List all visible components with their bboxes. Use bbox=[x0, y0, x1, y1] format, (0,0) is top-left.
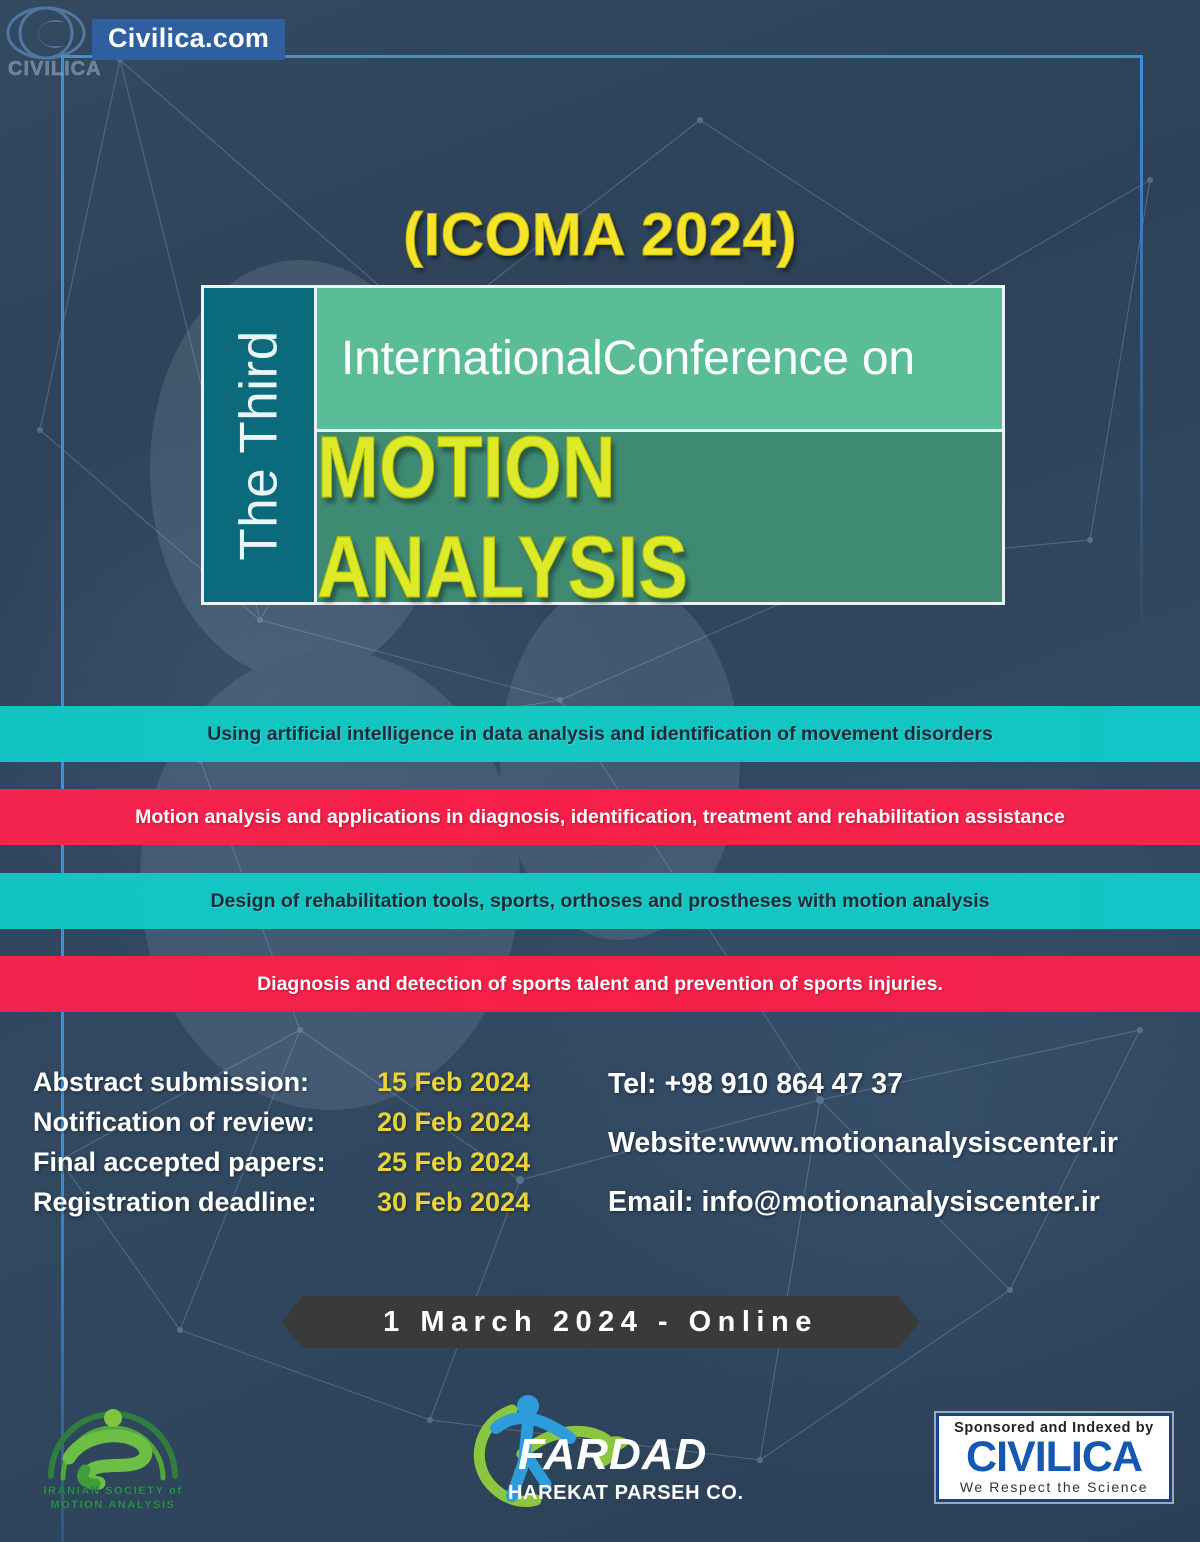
civilica-url-label: Civilica.com bbox=[108, 23, 269, 53]
society-name-line1: IRANIAN SOCIETY of bbox=[33, 1485, 193, 1497]
fardad-logo: FARDAD HAREKAT PARSEH CO. bbox=[450, 1392, 750, 1522]
conference-poster: CIVILICA Civilica.com (ICOMA 2024) The T… bbox=[0, 0, 1200, 1542]
date-value: 30 Feb 2024 bbox=[377, 1187, 530, 1218]
fardad-sub-label: HAREKAT PARSEH CO. bbox=[508, 1482, 744, 1505]
topic-bar-1: Using artificial intelligence in data an… bbox=[0, 706, 1200, 762]
civilica-badge-name: CIVILICA bbox=[966, 1436, 1142, 1479]
event-date-label: 1 March 2024 - Online bbox=[383, 1306, 818, 1339]
civilica-badge-tagline: We Respect the Science bbox=[960, 1479, 1148, 1495]
date-value: 20 Feb 2024 bbox=[377, 1107, 530, 1138]
civilica-c-logo-icon bbox=[2, 6, 94, 62]
contact-info: Tel: +98 910 864 47 37 Website:www.motio… bbox=[608, 1068, 1118, 1245]
frame-right-line bbox=[1140, 55, 1143, 655]
iranian-society-logo: IRANIAN SOCIETY of MOTION ANALYSIS bbox=[33, 1398, 193, 1528]
date-row: Final accepted papers: 25 Feb 2024 bbox=[33, 1147, 530, 1178]
date-label: Notification of review: bbox=[33, 1107, 373, 1138]
topic-bar-2: Motion analysis and applications in diag… bbox=[0, 789, 1200, 845]
date-label: Final accepted papers: bbox=[33, 1147, 373, 1178]
topic-label-1: Using artificial intelligence in data an… bbox=[0, 723, 1200, 746]
date-value: 15 Feb 2024 bbox=[377, 1067, 530, 1098]
topic-label-4: Diagnosis and detection of sports talent… bbox=[0, 973, 1200, 996]
title-text-panel: InternationalConference on MOTION ANALYS… bbox=[317, 288, 1002, 602]
topic-bar-4: Diagnosis and detection of sports talent… bbox=[0, 956, 1200, 1012]
title-line2-label: MOTION ANALYSIS bbox=[317, 417, 1002, 618]
title-line2-panel: MOTION ANALYSIS bbox=[317, 432, 1002, 602]
topic-label-3: Design of rehabilitation tools, sports, … bbox=[0, 890, 1200, 913]
date-row: Notification of review: 20 Feb 2024 bbox=[33, 1107, 530, 1138]
conference-title-box: The Third InternationalConference on MOT… bbox=[201, 285, 1005, 605]
society-name-line2: MOTION ANALYSIS bbox=[33, 1499, 193, 1511]
date-label: Abstract submission: bbox=[33, 1067, 373, 1098]
fardad-name-label: FARDAD bbox=[518, 1430, 707, 1480]
conference-acronym: (ICOMA 2024) bbox=[0, 200, 1200, 269]
iranian-society-motion-analysis-logo-icon bbox=[33, 1398, 193, 1498]
civilica-url-tag[interactable]: Civilica.com bbox=[92, 19, 285, 60]
contact-website[interactable]: Website:www.motionanalysiscenter.ir bbox=[608, 1127, 1118, 1160]
topic-bar-3: Design of rehabilitation tools, sports, … bbox=[0, 873, 1200, 929]
date-label: Registration deadline: bbox=[33, 1187, 373, 1218]
title-line1-label: InternationalConference on bbox=[341, 331, 915, 386]
civilica-watermark-text: CIVILICA bbox=[8, 58, 102, 81]
date-row: Registration deadline: 30 Feb 2024 bbox=[33, 1187, 530, 1218]
contact-phone: Tel: +98 910 864 47 37 bbox=[608, 1068, 1118, 1101]
title-ordinal-label: The Third bbox=[229, 330, 290, 560]
contact-email[interactable]: Email: info@motionanalysiscenter.ir bbox=[608, 1186, 1118, 1219]
civilica-sponsor-badge: Sponsored and Indexed by CIVILICA We Res… bbox=[936, 1413, 1172, 1502]
important-dates: Abstract submission: 15 Feb 2024 Notific… bbox=[33, 1067, 530, 1227]
topic-label-2: Motion analysis and applications in diag… bbox=[0, 806, 1200, 829]
date-value: 25 Feb 2024 bbox=[377, 1147, 530, 1178]
title-line1-panel: InternationalConference on bbox=[317, 288, 1002, 432]
date-row: Abstract submission: 15 Feb 2024 bbox=[33, 1067, 530, 1098]
civilica-watermark: CIVILICA bbox=[2, 6, 94, 86]
title-ordinal-panel: The Third bbox=[204, 288, 317, 602]
event-date-banner: 1 March 2024 - Online bbox=[281, 1296, 920, 1348]
